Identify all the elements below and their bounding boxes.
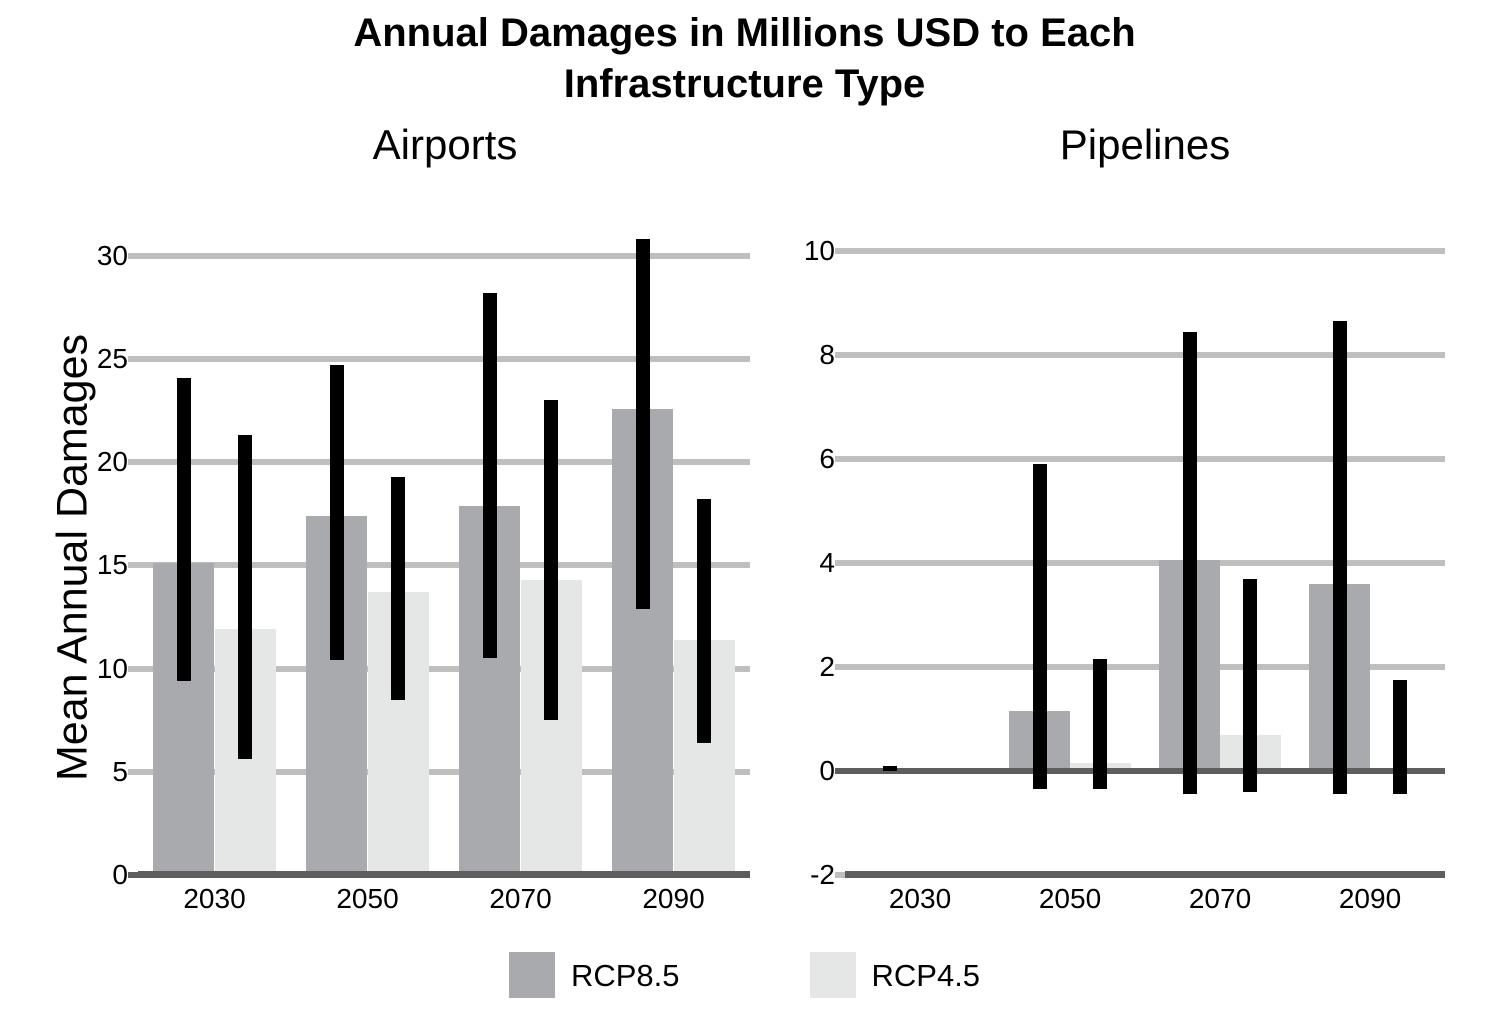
chart-figure: Annual Damages in Millions USD to Each I… xyxy=(0,0,1489,1024)
y-tick-mark-15 xyxy=(128,562,138,568)
x-tick-label-pipelines-2050: 2050 xyxy=(1039,883,1101,915)
gridline-airports-25 xyxy=(138,356,750,362)
y-tick-mark-10 xyxy=(128,666,138,672)
y-tick-label-4: 4 xyxy=(819,549,835,577)
y-tick-label-25: 25 xyxy=(97,345,128,373)
errorbar-airports-2030-RCP8.5 xyxy=(177,378,191,681)
y-tick-mark-10 xyxy=(835,248,845,254)
errorbar-airports-2070-RCP8.5 xyxy=(483,293,497,658)
y-axis-title: Mean Annual Damages xyxy=(49,238,98,878)
errorbar-pipelines-2030-RCP8.5 xyxy=(883,766,897,771)
y-tick-label-8: 8 xyxy=(819,341,835,369)
legend-label-rcp85: RCP8.5 xyxy=(571,960,680,991)
legend-entry-rcp85[interactable]: RCP8.5 xyxy=(509,952,680,998)
chart-legend: RCP8.5 RCP4.5 xyxy=(0,952,1489,998)
errorbar-airports-2050-RCP8.5 xyxy=(330,365,344,660)
errorbar-pipelines-2070-RCP4.5 xyxy=(1243,579,1257,792)
x-axis-line xyxy=(845,871,1445,878)
chart-title-line-2: Infrastructure Type xyxy=(0,59,1489,110)
errorbar-airports-2090-RCP8.5 xyxy=(636,239,650,608)
y-tick-label-20: 20 xyxy=(97,448,128,476)
y-tick-mark-30 xyxy=(128,253,138,259)
plot-area-airports: 051015202530 xyxy=(138,225,750,875)
gridline-airports-30 xyxy=(138,253,750,259)
y-tick-label-2: 2 xyxy=(819,653,835,681)
x-tick-label-airports-2090: 2090 xyxy=(642,883,704,915)
errorbar-pipelines-2050-RCP4.5 xyxy=(1093,659,1107,789)
errorbar-airports-2070-RCP4.5 xyxy=(544,400,558,720)
legend-label-rcp45: RCP4.5 xyxy=(872,960,981,991)
gridline-pipelines-0 xyxy=(845,768,1445,774)
y-tick-label-15: 15 xyxy=(97,551,128,579)
x-tick-label-airports-2030: 2030 xyxy=(183,883,245,915)
y-tick-mark-6 xyxy=(835,456,845,462)
y-tick-mark-5 xyxy=(128,769,138,775)
y-tick-label-10: 10 xyxy=(97,655,128,683)
legend-swatch-rcp85 xyxy=(509,952,555,998)
panel-airports: 051015202530 2030205020702090 xyxy=(138,225,750,893)
legend-entry-rcp45[interactable]: RCP4.5 xyxy=(810,952,981,998)
errorbar-airports-2050-RCP4.5 xyxy=(391,477,405,700)
y-tick-label-0: 0 xyxy=(819,757,835,785)
x-axis-line xyxy=(138,871,750,878)
x-tick-label-pipelines-2030: 2030 xyxy=(889,883,951,915)
y-tick-label-0: 0 xyxy=(112,861,128,889)
errorbar-pipelines-2050-RCP8.5 xyxy=(1033,464,1047,789)
errorbar-pipelines-2090-RCP8.5 xyxy=(1333,321,1347,794)
errorbar-airports-2090-RCP4.5 xyxy=(697,499,711,742)
chart-title: Annual Damages in Millions USD to Each I… xyxy=(0,8,1489,110)
y-tick-label--2: -2 xyxy=(810,861,835,889)
y-tick-label-6: 6 xyxy=(819,445,835,473)
y-tick-mark-8 xyxy=(835,352,845,358)
y-tick-mark-25 xyxy=(128,356,138,362)
y-tick-label-30: 30 xyxy=(97,242,128,270)
facet-label-pipelines: Pipelines xyxy=(845,123,1445,167)
gridline-pipelines-6 xyxy=(845,456,1445,462)
gridline-pipelines-8 xyxy=(845,352,1445,358)
x-tick-label-pipelines-2090: 2090 xyxy=(1339,883,1401,915)
y-tick-label-10: 10 xyxy=(804,237,835,265)
legend-swatch-rcp45 xyxy=(810,952,856,998)
plot-area-pipelines: -20246810 xyxy=(845,225,1445,875)
y-tick-mark-0 xyxy=(128,872,138,878)
y-tick-mark-2 xyxy=(835,664,845,670)
y-tick-mark-20 xyxy=(128,459,138,465)
x-tick-label-pipelines-2070: 2070 xyxy=(1189,883,1251,915)
gridline-pipelines-4 xyxy=(845,560,1445,566)
errorbar-pipelines-2070-RCP8.5 xyxy=(1183,332,1197,795)
x-tick-label-airports-2070: 2070 xyxy=(489,883,551,915)
y-tick-label-5: 5 xyxy=(112,758,128,786)
chart-title-line-1: Annual Damages in Millions USD to Each xyxy=(0,8,1489,59)
y-tick-mark-0 xyxy=(835,768,845,774)
facet-label-airports: Airports xyxy=(140,123,750,167)
x-tick-label-airports-2050: 2050 xyxy=(336,883,398,915)
errorbar-pipelines-2090-RCP4.5 xyxy=(1393,680,1407,794)
errorbar-airports-2030-RCP4.5 xyxy=(238,435,252,759)
y-tick-mark-4 xyxy=(835,560,845,566)
panel-pipelines: -20246810 2030205020702090 xyxy=(845,225,1445,893)
gridline-pipelines-10 xyxy=(845,248,1445,254)
y-tick-mark--2 xyxy=(835,872,845,878)
